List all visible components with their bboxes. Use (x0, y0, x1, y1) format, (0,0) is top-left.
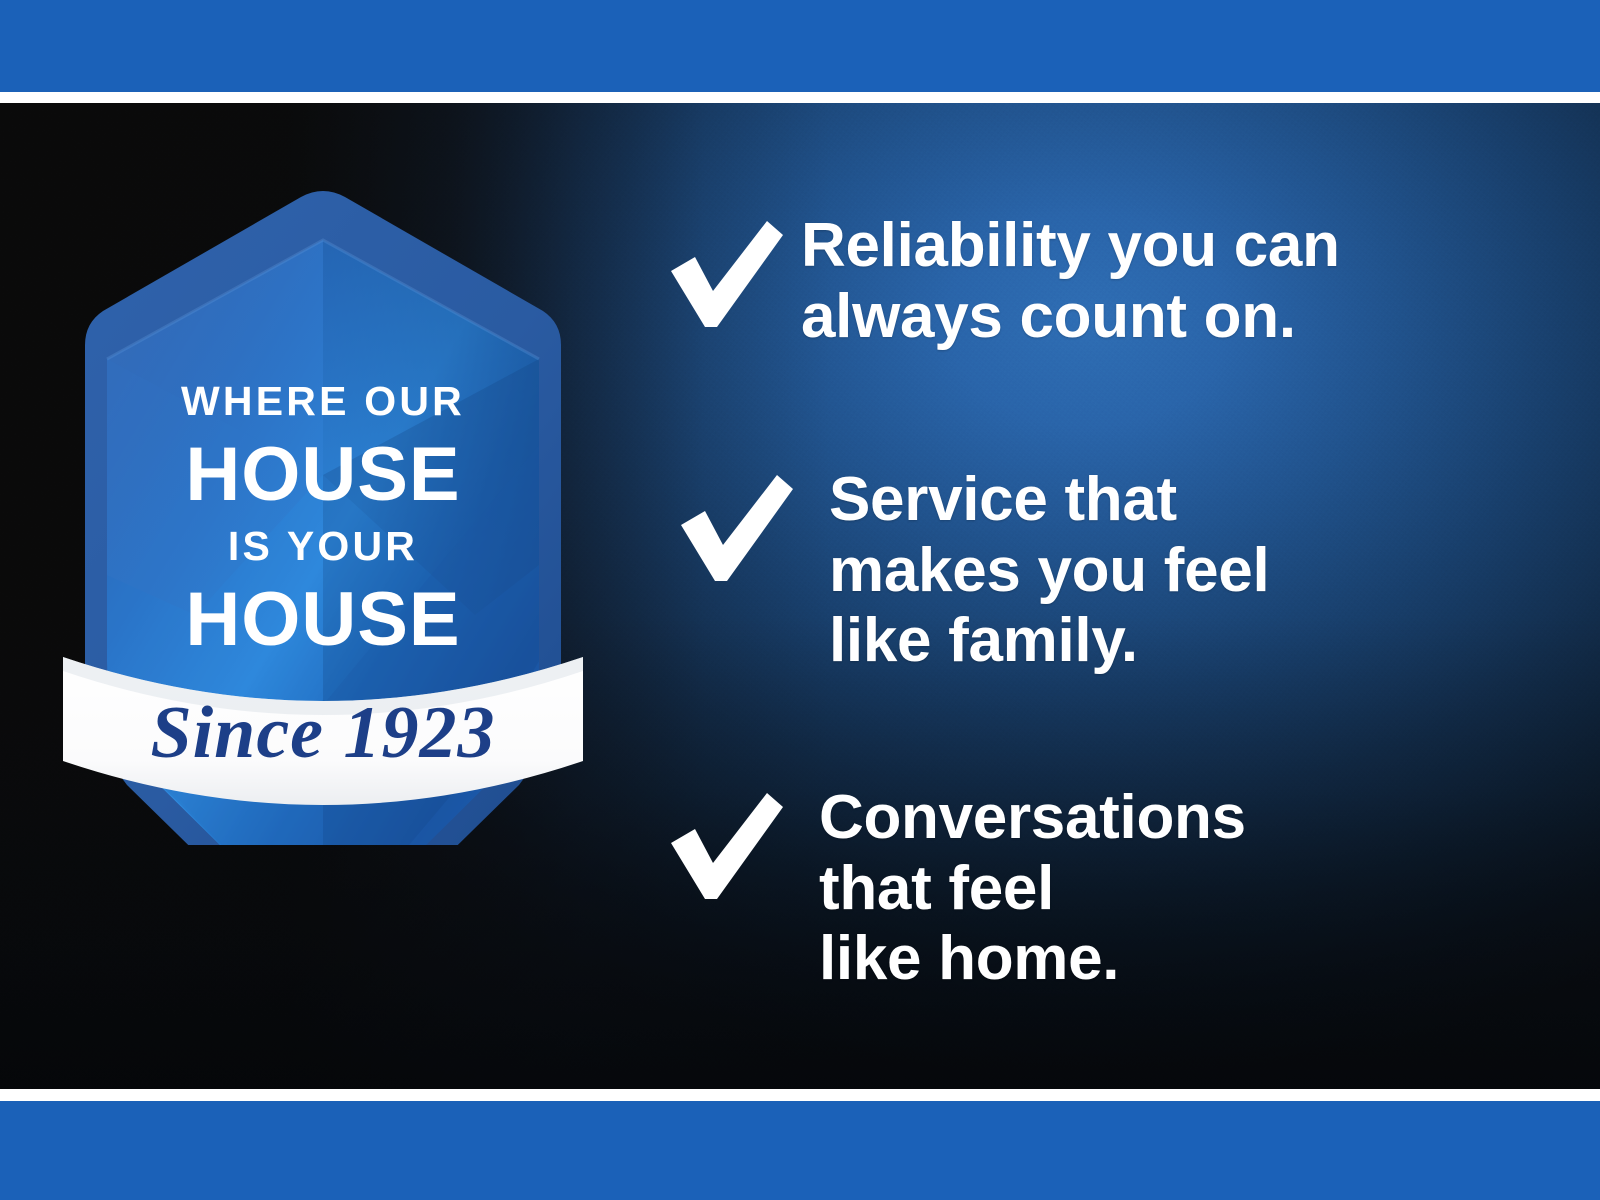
logo-line-2: HOUSE (185, 432, 460, 517)
list-item-label: Conversations that feel like home. (819, 783, 1246, 995)
list-item-label: Reliability you can always count on. (801, 211, 1340, 352)
checkmark-icon (665, 793, 783, 905)
list-item-label: Service that makes you feel like family. (829, 465, 1269, 677)
logo-line-3: IS YOUR (228, 523, 418, 569)
logo-line-4: HOUSE (185, 577, 460, 662)
list-item: Conversations that feel like home. (665, 783, 1246, 995)
bottom-white-divider (0, 1089, 1600, 1101)
value-prop-list: Reliability you can always count on. Ser… (665, 103, 1565, 1089)
list-item: Service that makes you feel like family. (675, 465, 1269, 677)
brand-logo: WHERE OUR HOUSE IS YOUR HOUSE Since 1923 (55, 145, 615, 845)
bottom-brand-bar (0, 1101, 1600, 1200)
checkmark-icon (675, 475, 793, 587)
list-item: Reliability you can always count on. (665, 211, 1340, 352)
checkmark-icon (665, 221, 783, 333)
promo-banner: WHERE OUR HOUSE IS YOUR HOUSE Since 1923 (0, 0, 1600, 1200)
logo-line-1: WHERE OUR (181, 378, 465, 424)
top-white-divider (0, 92, 1600, 103)
logo-ribbon-text: Since 1923 (150, 692, 495, 774)
top-brand-bar (0, 0, 1600, 92)
